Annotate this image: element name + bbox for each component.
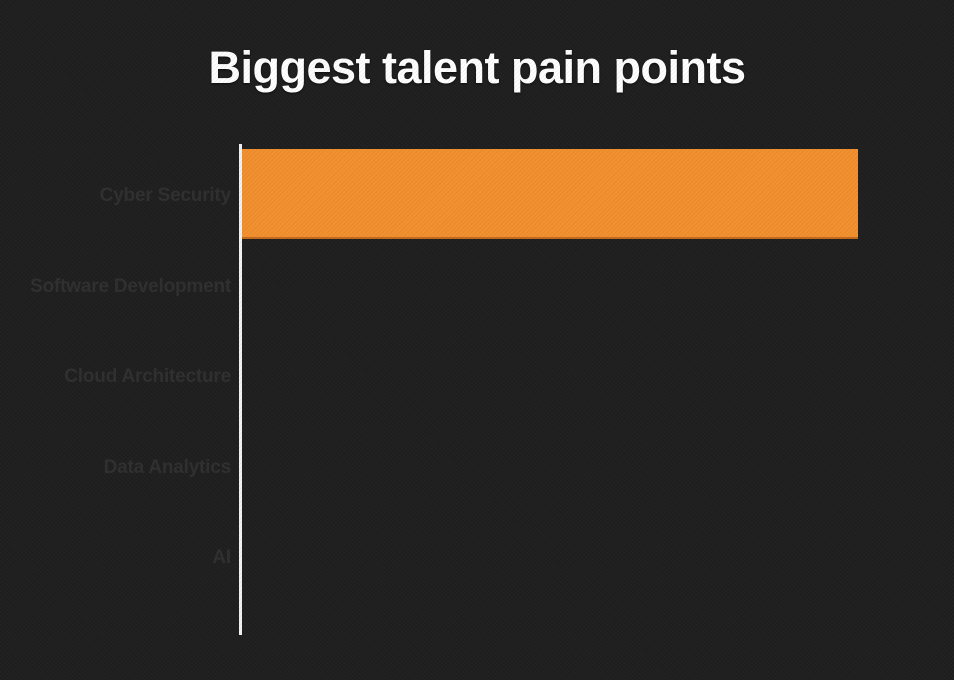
y-tick-label-software-development: Software Development (0, 277, 231, 296)
y-axis-line (239, 144, 242, 635)
y-tick-label-data-analytics: Data Analytics (0, 458, 231, 477)
chart-canvas: Cyber Security Software Development Clou… (0, 0, 954, 680)
y-tick-label-cyber-security: Cyber Security (0, 186, 231, 205)
plot-area: Cyber Security Software Development Clou… (0, 0, 954, 680)
bar-cyber-security[interactable] (242, 149, 858, 239)
y-tick-label-ai: AI (0, 548, 231, 567)
chart-title: Biggest talent pain points (0, 44, 954, 93)
y-tick-label-cloud-architecture: Cloud Architecture (0, 367, 231, 386)
